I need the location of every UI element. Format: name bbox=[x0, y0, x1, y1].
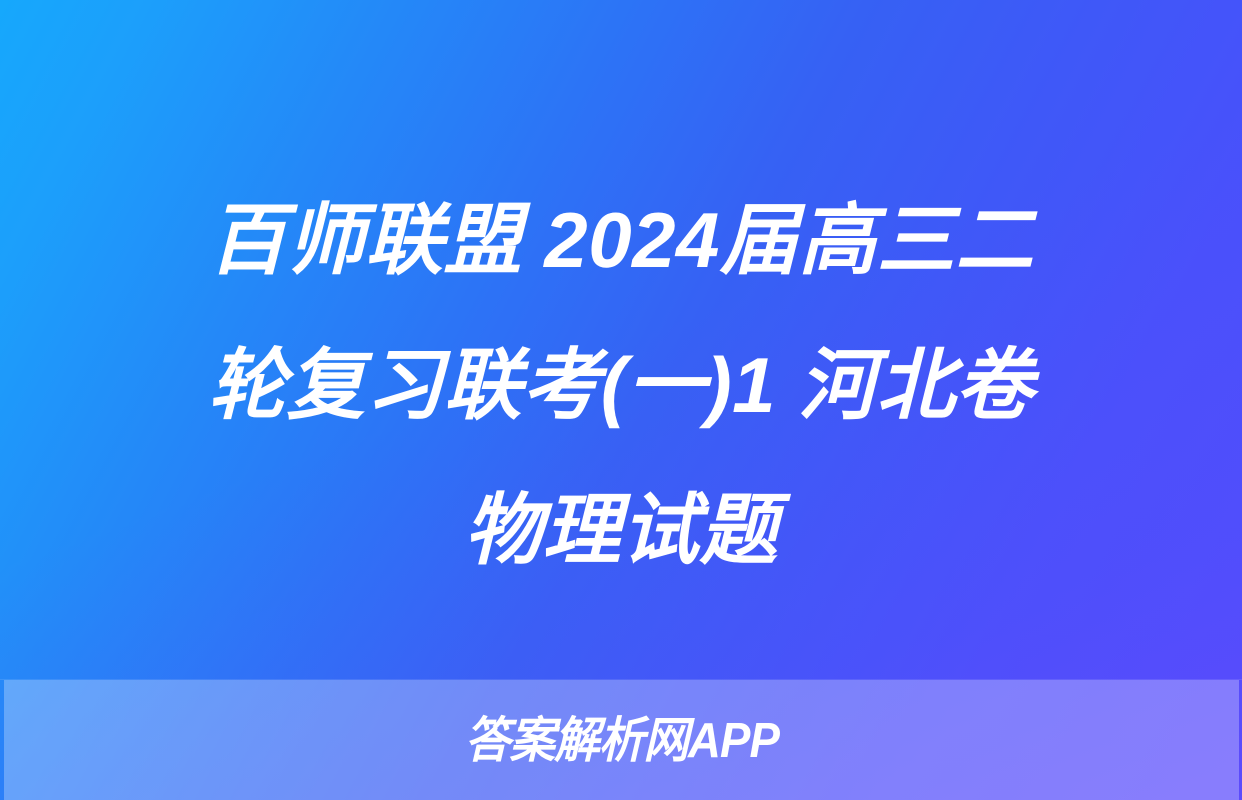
page-title: 百师联盟 2024届高三二 轮复习联考(一)1 河北卷 物理试题 bbox=[0, 168, 1242, 603]
footer-banner-content: 答案解析网APP bbox=[4, 680, 1239, 800]
title-line-3: 物理试题 bbox=[46, 458, 1196, 603]
title-line-1: 百师联盟 2024届高三二 bbox=[46, 168, 1196, 313]
title-line-2: 轮复习联考(一)1 河北卷 bbox=[46, 313, 1196, 458]
footer-banner: 答案解析网APP bbox=[4, 680, 1239, 800]
exam-cover-card: 百师联盟 2024届高三二 轮复习联考(一)1 河北卷 物理试题 答案解析网AP… bbox=[0, 0, 1242, 800]
app-watermark: 答案解析网APP bbox=[464, 717, 778, 766]
